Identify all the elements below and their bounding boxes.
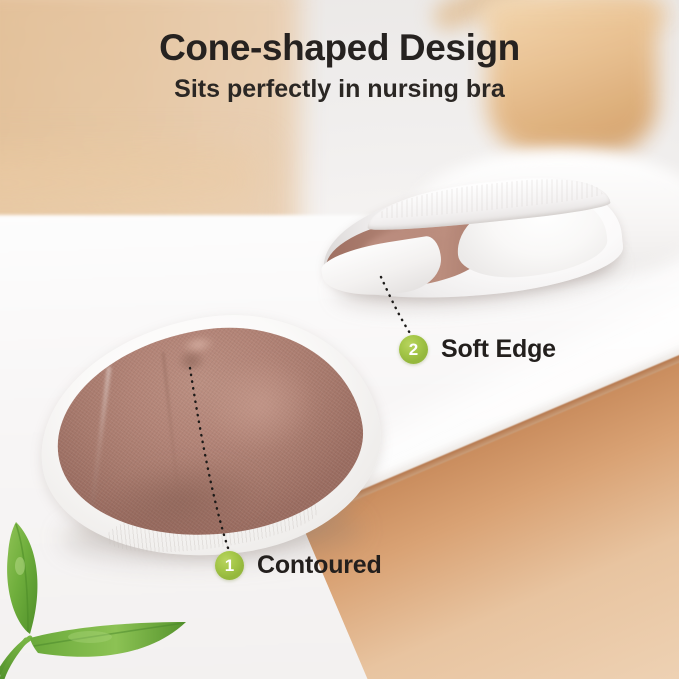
callout-contoured: 1 Contoured [215,551,382,580]
callout-badge-1: 1 [215,551,244,580]
product-infographic: Cone-shaped Design Sits perfectly in nur… [0,0,679,679]
green-leaves-sprig [0,510,195,679]
callout-label-contoured: Contoured [257,551,382,580]
page-subtitle: Sits perfectly in nursing bra [0,75,679,104]
headline-block: Cone-shaped Design Sits perfectly in nur… [0,28,679,103]
callout-label-soft-edge: Soft Edge [441,335,556,364]
callout-badge-2: 2 [399,335,428,364]
callout-soft-edge: 2 Soft Edge [399,335,556,364]
page-title: Cone-shaped Design [0,28,679,69]
